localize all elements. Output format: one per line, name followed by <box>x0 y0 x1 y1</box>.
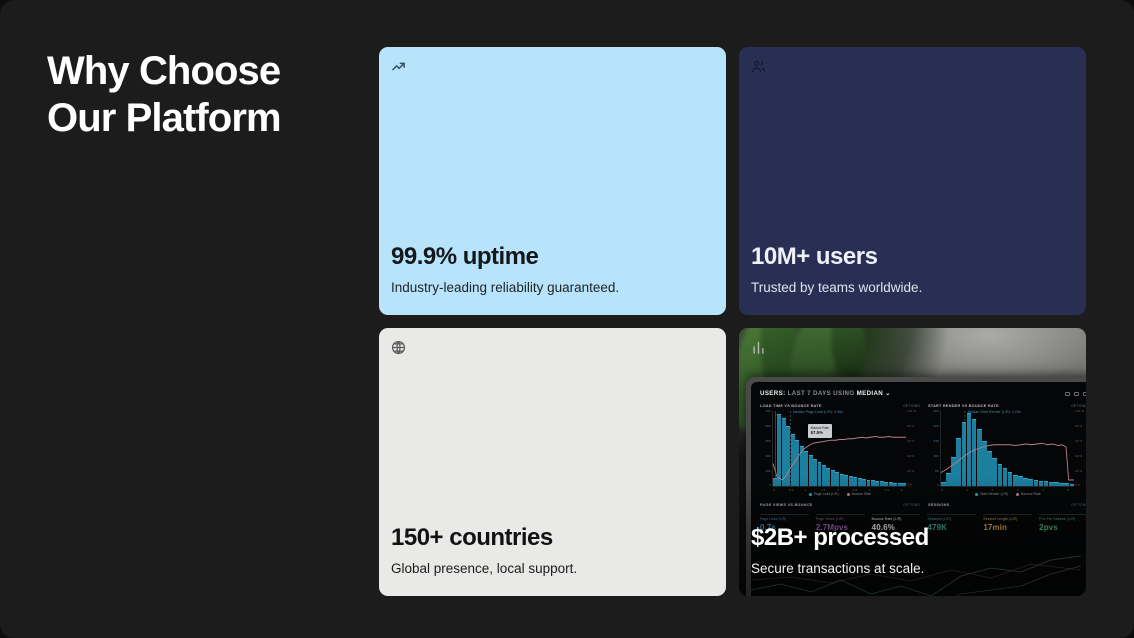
panel-options-button[interactable]: OPTIONS <box>1071 404 1086 408</box>
card-countries[interactable]: 150+ countries Global presence, local su… <box>379 328 726 596</box>
card-processed-description: Secure transactions at scale. <box>751 560 1074 578</box>
legend-label: Page Load (L/R) <box>814 492 839 496</box>
globe-icon <box>391 340 406 355</box>
bar-chart-icon <box>751 340 766 355</box>
y2-axis-tick: 20 % <box>907 469 919 473</box>
users-icon <box>751 59 766 74</box>
x-axis-tick: 1.5 <box>821 488 825 492</box>
page-title-line-1: Why Choose <box>47 48 357 95</box>
kpi-label: PVs Per Session (L/R) <box>1039 517 1086 521</box>
panel-title: START RENDER VS BOUNCE RATE <box>928 404 999 408</box>
y2-axis-tick: 100 % <box>907 409 919 413</box>
y-axis-tick: 40K <box>930 409 939 413</box>
panel-options-button[interactable]: OPTIONS <box>903 503 920 507</box>
panel-load-time-vs-bounce: LOAD TIME VS BOUNCE RATE OPTIONS <box>760 404 920 496</box>
card-countries-stat: 150+ countries <box>391 523 714 553</box>
x-axis-tick: 2 <box>992 488 994 492</box>
y-axis-tick: 15K <box>762 469 771 473</box>
panel-title: SESSIONS <box>928 503 949 507</box>
legend-label: Start Render (L/R) <box>980 492 1008 496</box>
y2-axis-tick: 60 % <box>907 439 919 443</box>
card-countries-description: Global presence, local support. <box>391 560 714 578</box>
card-uptime-description: Industry-leading reliability guaranteed. <box>391 279 714 297</box>
x-axis-tick: 4 <box>901 488 903 492</box>
x-axis-tick: 3.5 <box>885 488 889 492</box>
card-countries-body: 150+ countries Global presence, local su… <box>379 523 726 596</box>
x-axis-tick: 0 <box>941 488 943 492</box>
y2-axis-tick: 20 % <box>1075 469 1086 473</box>
panel-header: SESSIONS OPTIONS <box>928 503 1086 507</box>
y2-axis-tick: 0 % <box>907 483 919 487</box>
chart-legend: Start Render (L/R) Bounce Rate <box>928 492 1086 496</box>
chart-plot-area: Median Start Render (L/R): 1.03s 40K 32K… <box>940 411 1074 487</box>
y-axis-tick: 75K <box>762 409 771 413</box>
legend-swatch <box>1016 493 1019 496</box>
dashboard-aggregation: MEDIAN <box>857 390 884 397</box>
y-axis-tick: 0 <box>762 483 771 487</box>
panel-page-views-vs-bounce: PAGE VIEWS VS BOUNCE OPTIONS <box>760 503 920 510</box>
panel-title: PAGE VIEWS VS BOUNCE <box>760 503 812 507</box>
chart-line-bounce-rate <box>941 411 1074 486</box>
card-users-stat: 10M+ users <box>751 242 1074 272</box>
chart-line-bounce-rate <box>773 411 906 486</box>
chart-plot-area: Median Page Load (L/R): 0.55s Bounce Rat… <box>772 411 906 487</box>
chevron-down-icon: ⌄ <box>885 390 891 397</box>
panel-header: START RENDER VS BOUNCE RATE OPTIONS <box>928 404 1086 408</box>
x-axis-tick: 3 <box>1017 488 1019 492</box>
x-axis-tick: 4 <box>1042 488 1044 492</box>
trending-up-icon <box>391 59 406 74</box>
legend-label: Bounce Rate <box>1021 492 1041 496</box>
y-axis-tick: 32K <box>930 424 939 428</box>
card-processed-stat: $2B+ processed <box>751 523 1074 553</box>
kpi-label: Page Load (L/R) <box>760 517 809 521</box>
dashboard-title: USERS: LAST 7 DAYS USING MEDIAN ⌄ <box>760 390 891 397</box>
legend-swatch <box>847 493 850 496</box>
card-users-description: Trusted by teams worldwide. <box>751 279 1074 297</box>
panel-header: LOAD TIME VS BOUNCE RATE OPTIONS <box>760 404 920 408</box>
median-annotation: Median Page Load (L/R): 0.55s <box>793 410 843 414</box>
dashboard-range: LAST 7 DAYS <box>788 390 832 397</box>
dashboard-panel-row: LOAD TIME VS BOUNCE RATE OPTIONS <box>760 404 1086 496</box>
card-processed-body: $2B+ processed Secure transactions at sc… <box>739 523 1086 596</box>
card-users[interactable]: 10M+ users Trusted by teams worldwide. <box>739 47 1086 315</box>
legend-swatch <box>809 493 812 496</box>
y-axis-tick: 60K <box>762 424 771 428</box>
y-axis-tick: 30K <box>762 454 771 458</box>
kpi-label: Page Views (L/R) <box>816 517 865 521</box>
dashboard-panel-row-2: PAGE VIEWS VS BOUNCE OPTIONS SESSIONS OP… <box>760 503 1086 510</box>
kpi-label: Bounce Rate (L/R) <box>872 517 921 521</box>
legend-item: Bounce Rate <box>847 492 872 496</box>
x-axis-tick: 0 <box>773 488 775 492</box>
x-axis-tick: 2.5 <box>853 488 857 492</box>
legend-item: Bounce Rate <box>1016 492 1041 496</box>
panel-options-button[interactable]: OPTIONS <box>1071 503 1086 507</box>
x-axis-tick: 0.5 <box>789 488 793 492</box>
card-uptime-stat: 99.9% uptime <box>391 242 714 272</box>
x-axis-tick: 2 <box>837 488 839 492</box>
median-annotation: Median Start Render (L/R): 1.03s <box>968 410 1021 414</box>
save-icon <box>1074 392 1079 396</box>
y2-axis-tick: 0 % <box>1075 483 1086 487</box>
panel-start-render-vs-bounce: START RENDER VS BOUNCE RATE OPTIONS <box>928 404 1086 496</box>
x-axis-tick: 3 <box>869 488 871 492</box>
card-users-body: 10M+ users Trusted by teams worldwide. <box>739 242 1086 315</box>
panel-title: LOAD TIME VS BOUNCE RATE <box>760 404 822 408</box>
dashboard-metric: USERS: <box>760 390 785 397</box>
y2-axis-tick: 60 % <box>1075 439 1086 443</box>
dashboard-using-label: USING <box>833 390 854 397</box>
card-uptime-body: 99.9% uptime Industry-leading reliabilit… <box>379 242 726 315</box>
kpi-label: Sessions (L/R) <box>927 517 976 521</box>
y-axis-tick: 8K <box>930 469 939 473</box>
legend-item: Start Render (L/R) <box>975 492 1008 496</box>
y2-axis-tick: 40 % <box>907 454 919 458</box>
card-uptime[interactable]: 99.9% uptime Industry-leading reliabilit… <box>379 47 726 315</box>
feature-card-grid: 99.9% uptime Industry-leading reliabilit… <box>379 47 1086 591</box>
y-axis-tick: 24K <box>930 439 939 443</box>
chart-legend: Page Load (L/R) Bounce Rate <box>760 492 920 496</box>
page-root: Why Choose Our Platform 99.9% uptime Ind… <box>0 0 1134 638</box>
panel-options-button[interactable]: OPTIONS <box>903 404 920 408</box>
page-title: Why Choose Our Platform <box>47 48 357 142</box>
x-axis-tick: 1 <box>805 488 807 492</box>
panel-sessions: SESSIONS OPTIONS <box>928 503 1086 510</box>
y2-axis-tick: 100 % <box>1075 409 1086 413</box>
x-axis-tick: 1 <box>966 488 968 492</box>
tooltip-value: 57.5% <box>811 430 829 436</box>
x-axis-tick: 5 <box>1067 488 1069 492</box>
legend-label: Bounce Rate <box>852 492 872 496</box>
y-axis-tick: 45K <box>762 439 771 443</box>
legend-item: Page Load (L/R) <box>809 492 839 496</box>
y-axis-tick: 16K <box>930 454 939 458</box>
y-axis-tick: 0 <box>930 483 939 487</box>
kpi-label: Session Length (L/R) <box>983 517 1032 521</box>
gear-icon <box>1083 392 1086 396</box>
y2-axis-tick: 80 % <box>907 424 919 428</box>
y2-axis-tick: 80 % <box>1075 424 1086 428</box>
legend-swatch <box>975 493 978 496</box>
panel-header: PAGE VIEWS VS BOUNCE OPTIONS <box>760 503 920 507</box>
monitor-icon <box>1065 392 1070 396</box>
dashboard-toolbar <box>1065 392 1086 396</box>
y2-axis-tick: 40 % <box>1075 454 1086 458</box>
dashboard-header: USERS: LAST 7 DAYS USING MEDIAN ⌄ <box>760 390 1086 397</box>
chart-tooltip: Bounce Rate 57.5% <box>808 424 832 438</box>
page-title-line-2: Our Platform <box>47 95 357 142</box>
card-processed[interactable]: USERS: LAST 7 DAYS USING MEDIAN ⌄ <box>739 328 1086 596</box>
